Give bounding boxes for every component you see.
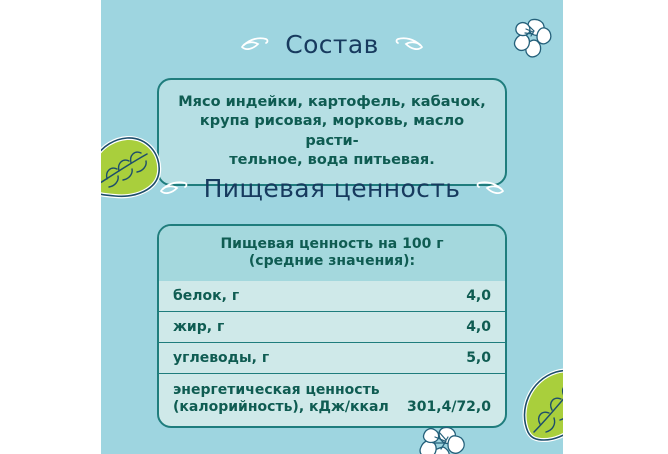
nutrition-heading-row: Пищевая ценность (101, 174, 563, 203)
table-row: жир, г 4,0 (159, 312, 505, 343)
nutrient-value: 4,0 (456, 288, 491, 305)
nutrient-value: 4,0 (456, 319, 491, 336)
nutrient-value: 5,0 (456, 350, 491, 367)
ingredients-heading-row: Состав (101, 30, 563, 59)
nutrition-table-title: Пищевая ценность на 100 г (средние значе… (173, 236, 491, 270)
nutrition-table-header: Пищевая ценность на 100 г (средние значе… (159, 226, 505, 281)
leaf-swash-right-icon (391, 34, 425, 56)
flower-bottom-icon (415, 424, 471, 454)
table-row: энергетическая ценность (калорийность), … (159, 374, 505, 425)
table-row: углеводы, г 5,0 (159, 343, 505, 374)
nutrient-label: жир, г (173, 319, 224, 336)
leaf-swash-right-icon (472, 178, 506, 200)
product-label-panel: Состав Мясо индейки, картофель, кабачок,… (0, 0, 668, 454)
nutrition-table: Пищевая ценность на 100 г (средние значе… (157, 224, 507, 428)
nutrient-label: белок, г (173, 288, 239, 305)
table-row: белок, г 4,0 (159, 281, 505, 312)
leaf-swash-left-icon (158, 178, 192, 200)
ingredients-heading-label: Состав (285, 30, 379, 59)
leaf-right-icon (520, 366, 563, 444)
ingredients-box: Мясо индейки, картофель, кабачок, крупа … (157, 78, 507, 186)
blue-background-panel: Состав Мясо индейки, картофель, кабачок,… (101, 0, 563, 454)
nutrition-heading-label: Пищевая ценность (204, 174, 461, 203)
nutrient-label: углеводы, г (173, 350, 269, 367)
leaf-swash-left-icon (239, 34, 273, 56)
nutrient-value: 301,4/72,0 (397, 399, 491, 416)
ingredients-text: Мясо индейки, картофель, кабачок, крупа … (175, 93, 489, 170)
nutrient-label: энергетическая ценность (калорийность), … (173, 382, 389, 416)
